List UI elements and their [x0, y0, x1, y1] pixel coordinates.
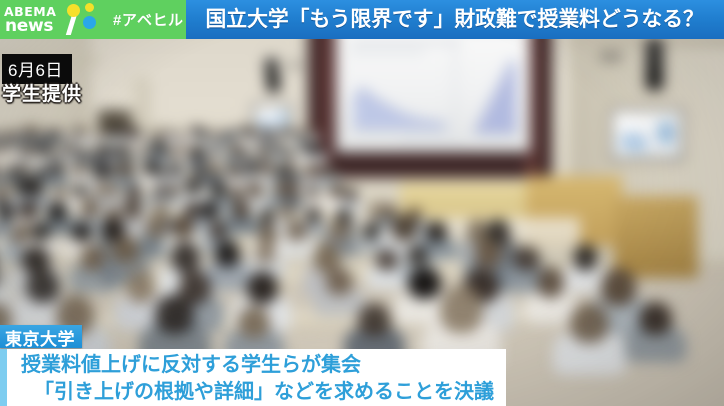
monitor-slide-shape: [277, 112, 286, 126]
audience-person-head: [251, 127, 261, 137]
monitor-slide-shape: [620, 133, 649, 151]
logo-slash-icon: [66, 14, 77, 35]
audience-person-head: [426, 221, 447, 242]
wall-monitor-right: [610, 108, 684, 160]
broadcast-header: ABEMA news #アベヒル 国立大学「もう限界です」財政難で授業料どうなる…: [0, 0, 724, 39]
audience-person-head: [193, 144, 205, 158]
audience-person-head: [207, 160, 222, 175]
slide-subtext-line: [350, 40, 460, 44]
audience-person-head: [166, 129, 174, 137]
audience-person-head: [574, 244, 597, 271]
headline-bar: 国立大学「もう限界です」財政難で授業料どうなる？: [186, 0, 724, 39]
audience-person-head: [54, 186, 67, 200]
slide-bar-chart: [470, 56, 522, 136]
audience-person-head: [200, 200, 219, 221]
yellow-dot-icon: [85, 3, 94, 12]
blue-dot-icon: [83, 16, 96, 29]
headline-text: 国立大学「もう限界です」財政難で授業料どうなる？: [206, 9, 704, 30]
audience-person-head: [255, 243, 275, 263]
audience-person-head: [330, 184, 345, 198]
photo-blur-layer: [0, 0, 724, 406]
audience-person-head: [329, 220, 349, 240]
audience-person-head: [185, 177, 201, 195]
monitor-slide-shape: [657, 121, 675, 145]
audience-person-head: [258, 160, 273, 176]
audience-person-head: [170, 146, 181, 158]
audience-person-head: [233, 200, 250, 219]
audience-person-head: [345, 188, 357, 201]
slide-footer-text: [400, 139, 466, 144]
audience-person-head: [639, 302, 672, 335]
yellow-dot-icon: [67, 4, 80, 17]
audience-person-head: [211, 181, 228, 198]
audience-person-head: [238, 306, 270, 337]
audience-person-head: [210, 221, 226, 239]
audience-person-head: [229, 144, 241, 156]
audience-person-head: [168, 185, 180, 197]
audience-person-head: [226, 129, 235, 138]
audience-person-head: [51, 147, 60, 157]
audience-person-head: [26, 269, 60, 303]
audience-person-head: [358, 303, 391, 337]
audience-person-head: [307, 127, 315, 136]
slide-area-chart: [352, 70, 448, 132]
audience-person-head: [215, 240, 240, 268]
audience-person-head: [146, 215, 166, 238]
audience-person-head: [241, 149, 250, 158]
audience-person-head: [247, 181, 263, 198]
audience-person-head: [50, 162, 64, 176]
audience-person-head: [107, 184, 119, 197]
audience-person-head: [170, 162, 182, 175]
wall-fixture: [600, 52, 622, 61]
audience-person-head: [74, 184, 86, 198]
source-credit: 学生提供: [2, 79, 82, 106]
audience-person-head: [143, 160, 157, 175]
audience-person-head: [112, 236, 138, 264]
audience-person-head: [95, 147, 107, 158]
audience-person-head: [244, 160, 257, 174]
audience-person-head: [127, 270, 155, 303]
audience-person-head: [154, 141, 167, 154]
subtitle-line-2: 「引き上げの根拠や詳細」などを求めることを決議: [21, 379, 506, 406]
audience-person-head: [407, 245, 427, 265]
audience-person-head: [134, 130, 143, 139]
speaker-right: [646, 38, 663, 90]
audience-person-head: [211, 146, 220, 155]
audience-person-head: [212, 130, 221, 139]
audience-person-head: [440, 286, 482, 333]
lecture-hall-photo: [0, 0, 724, 406]
audience-person-head: [21, 143, 33, 156]
audience-person-head: [287, 161, 298, 173]
audience-person-head: [264, 128, 274, 139]
audience-person-head: [18, 164, 30, 176]
subtitle-line-1: 授業料値上げに反対する学生らが集会: [21, 352, 506, 379]
audience-person-head: [392, 215, 417, 241]
audience-person-head: [124, 198, 142, 218]
audience-person-head: [383, 204, 397, 218]
audience-person-head: [83, 127, 92, 137]
slide-divider: [454, 36, 456, 134]
broadcast-screenshot: ABEMA news #アベヒル 国立大学「もう限界です」財政難で授業料どうなる…: [0, 0, 724, 406]
audience-person-head: [258, 223, 277, 245]
audience-person-head: [376, 249, 398, 271]
audience-person-head: [247, 271, 278, 304]
audience-person-head: [119, 161, 133, 177]
audience-person-head: [72, 222, 93, 242]
audience-person-head: [199, 129, 209, 139]
audience-person-head: [326, 268, 353, 295]
audience-person-head: [30, 126, 41, 137]
audience-person-head: [537, 267, 564, 298]
audience-person-head: [31, 222, 50, 241]
audience-person-head: [408, 267, 440, 298]
audience-person-head: [475, 238, 501, 268]
audience-person-head: [514, 246, 539, 271]
audience-person-head: [286, 220, 306, 241]
audience-person-head: [55, 128, 62, 137]
audience-person-head: [25, 178, 42, 196]
audience-person-head: [312, 143, 324, 155]
audience-person-head: [6, 129, 16, 138]
audience-person-head: [279, 205, 294, 221]
abema-news-logo: ABEMA news: [5, 3, 109, 37]
brand-bar: ABEMA news #アベヒル: [0, 0, 186, 39]
slide-subtext-line: [350, 50, 424, 54]
organization-tag: 東京大学: [0, 325, 82, 348]
audience-person-head: [172, 215, 194, 239]
lectern-corner: [614, 196, 698, 278]
audience-person-head: [322, 164, 334, 177]
audience-person-head: [19, 201, 38, 219]
audience-person-head: [280, 127, 290, 137]
audience-person-head: [155, 294, 194, 334]
audience-person-head: [79, 147, 88, 156]
audience-person-head: [363, 222, 379, 240]
audience-person-head: [110, 127, 120, 138]
audience-person-head: [306, 206, 321, 223]
audience-person-head: [2, 144, 11, 153]
audience-person-head: [286, 149, 295, 158]
audience-person-head: [601, 268, 635, 306]
audience-person-head: [274, 144, 284, 155]
audience-person-head: [97, 131, 105, 139]
audience-person-head: [48, 202, 66, 220]
audience-person-head: [36, 142, 49, 157]
audience-person-head: [81, 198, 99, 219]
audience-person-head: [178, 130, 186, 139]
audience-person-head: [570, 303, 609, 343]
subtitle-panel: 授業料値上げに反対する学生らが集会 「引き上げの根拠や詳細」などを求めることを決…: [0, 349, 506, 406]
audience-person-head: [171, 241, 200, 273]
audience-person-head: [305, 163, 318, 177]
audience-person-head: [74, 165, 85, 176]
audience-person-head: [120, 145, 132, 157]
audience-person-head: [65, 144, 75, 154]
program-hashtag: #アベヒル: [113, 9, 184, 30]
wall-fixture: [288, 62, 301, 69]
logo-news-text: news: [5, 16, 53, 36]
audience-person-head: [261, 208, 275, 223]
audience-person-head: [285, 181, 299, 197]
audience-person-head: [258, 146, 270, 158]
